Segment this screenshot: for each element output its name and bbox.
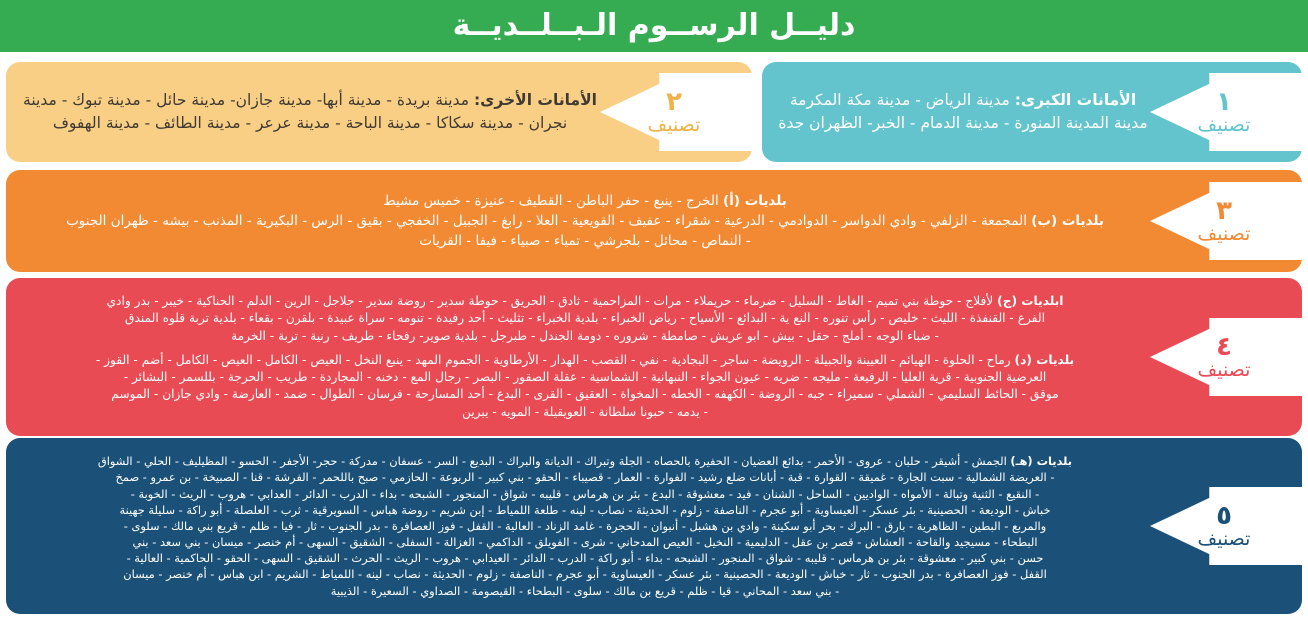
card-4-block-1: ابلديات (ج) لأفلاج - حوطة بني تميم - الغ… [20,293,1150,345]
card-1-line-2: مدينة المدينة المنورة - مدينة الدمام - ا… [776,112,1150,135]
card-4-b2-line-2: العرضية الجنوبية - قرية العليا - الرفيعة… [20,369,1150,386]
classification-card-3[interactable]: بلديات (أ) الخرج - ينبع - حفر الباطن - ا… [6,170,1302,272]
card-1-line-1: الأمانات الكبرى: مدينة الرياض - مدينة مك… [776,89,1150,112]
card-2-tab: ٢ تصنيف [600,62,752,162]
card-5-line-3: - النقيع - الثنية وتبالة - الأمواه - الو… [20,486,1150,502]
arrow-left-icon: ٥ تصنيف [1150,487,1302,565]
card-3-line-2: بلديات (ب) المجمعة - الزلفي - وادي الدوا… [20,211,1150,231]
card-5-line-1: بلديات (هـ) الجمش - أشيقر - حلبان - عروى… [20,453,1150,469]
card-4-b1-line-1: ابلديات (ج) لأفلاج - حوطة بني تميم - الغ… [20,293,1150,310]
card-3-line-1: بلديات (أ) الخرج - ينبع - حفر الباطن - ا… [20,191,1150,211]
card-5-line-7: حسن - بني كبير - معشوقة - بئر بن هرماس -… [20,550,1150,566]
card-4-block-2: بلديات (د) رماح - الحلوة - الهيائم - الع… [20,352,1150,421]
card-5-line-9: - بني سعد - المحاني - قيا - ظلم - قريع ب… [20,583,1150,599]
card-5-text: بلديات (هـ) الجمش - أشيقر - حلبان - عروى… [20,438,1150,614]
classification-card-5[interactable]: بلديات (هـ) الجمش - أشيقر - حلبان - عروى… [6,438,1302,614]
card-3-number: ٣ [1216,198,1232,224]
card-2-line-1: الأمانات الأخرى: مدينة بريدة - مدينة أبه… [20,89,600,112]
card-2-number: ٢ [666,89,682,115]
card-4-text: ابلديات (ج) لأفلاج - حوطة بني تميم - الغ… [20,278,1150,436]
card-5-line-4: خباش - الوديعة - الحصينية - بئر عسكر - ا… [20,502,1150,518]
card-5-label: تصنيف [1198,530,1251,549]
arrow-left-icon: ٤ تصنيف [1150,318,1302,396]
card-4-number: ٤ [1216,334,1232,360]
card-1-label: تصنيف [1198,116,1251,135]
card-2-label: تصنيف [648,116,701,135]
classification-card-1[interactable]: الأمانات الكبرى: مدينة الرياض - مدينة مك… [762,62,1302,162]
arrow-left-icon: ١ تصنيف [1150,73,1302,151]
classification-card-2[interactable]: الأمانات الأخرى: مدينة بريدة - مدينة أبه… [6,62,752,162]
infographic-page: دليــل الرســوم الـبــلــديــة الأمانات … [0,0,1308,620]
card-1-number: ١ [1216,89,1232,115]
card-4-tab: ٤ تصنيف [1150,278,1302,436]
card-5-line-2: - العريضة الشمالية - سبت الجارة - غميقة … [20,469,1150,485]
card-5-number: ٥ [1216,503,1232,529]
card-5-line-8: القفل - فوز العصافرة - بدر الجنوب - ثار … [20,566,1150,582]
card-5-tab: ٥ تصنيف [1150,438,1302,614]
card-3-tab: ٣ تصنيف [1150,170,1302,272]
card-1-tab: ١ تصنيف [1150,62,1302,162]
arrow-left-icon: ٢ تصنيف [600,73,752,151]
page-title: دليــل الرســوم الـبــلــديــة [453,11,856,41]
classification-card-4[interactable]: ابلديات (ج) لأفلاج - حوطة بني تميم - الغ… [6,278,1302,436]
card-1-text: الأمانات الكبرى: مدينة الرياض - مدينة مك… [776,62,1150,162]
card-4-b1-line-3: - ضباء الوجه - أملج - حقل - بيش - ابو عر… [20,328,1150,345]
card-2-text: الأمانات الأخرى: مدينة بريدة - مدينة أبه… [20,62,600,162]
card-3-label: تصنيف [1198,225,1251,244]
card-3-line-3: - النماص - محائل - بلجرشي - تمياء - صبيا… [20,231,1150,251]
card-4-label: تصنيف [1198,361,1251,380]
card-2-line-2: نجران - مدينة سكاكا - مدينة الباحة - مدي… [20,112,600,135]
card-5-line-5: والمربع - البطين - الظاهرية - بارق - الب… [20,518,1150,534]
card-5-line-6: البطحاء - مسيجيد والقاحة - العشاش - قصر … [20,534,1150,550]
card-4-b2-line-3: موقق - الحائط السليمي - الشملي - سميراء … [20,386,1150,403]
arrow-left-icon: ٣ تصنيف [1150,182,1302,260]
card-4-b2-line-1: بلديات (د) رماح - الحلوة - الهيائم - الع… [20,352,1150,369]
card-3-text: بلديات (أ) الخرج - ينبع - حفر الباطن - ا… [20,170,1150,272]
card-4-b2-line-4: - يدمه - حبونا سلطانة - العويقيلة - المو… [20,404,1150,421]
page-header: دليــل الرســوم الـبــلــديــة [0,0,1308,52]
card-4-b1-line-2: الفرع - القنفذة - الليث - خليص - رأس تنو… [20,310,1150,327]
